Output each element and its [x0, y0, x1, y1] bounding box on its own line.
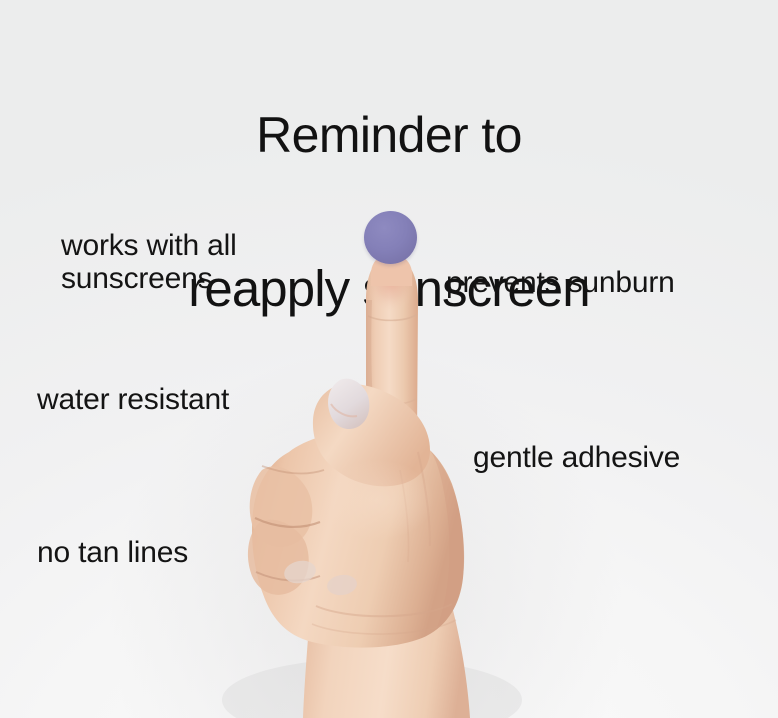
feature-label-works-with-all-sunscreens: works with all sunscreens [61, 229, 237, 295]
feature-label-prevents-sunburn: prevents sunburn [446, 266, 675, 299]
feature-label-no-tan-lines: no tan lines [37, 536, 188, 569]
feature-label-gentle-adhesive: gentle adhesive [473, 441, 680, 474]
purple-sunscreen-reminder-dot[interactable] [364, 211, 417, 264]
sunscreen-reminder-poster: Reminder to reapply sunscreen [0, 0, 778, 718]
feature-label-water-resistant: water resistant [37, 383, 229, 416]
poster-title-line-1: Reminder to [0, 110, 778, 161]
